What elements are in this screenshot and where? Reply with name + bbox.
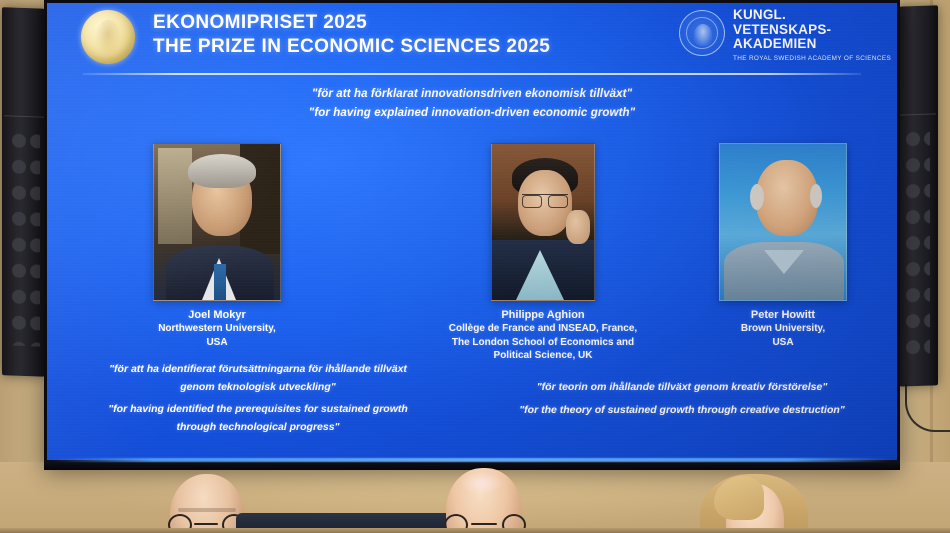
nobel-medal-profile bbox=[95, 20, 121, 56]
laureate-affiliation-1-line1: Collège de France and INSEAD, France, bbox=[439, 322, 647, 336]
panelist-center-head-highlight bbox=[460, 472, 504, 494]
main-citation-swedish: "för att ha förklarat innovationsdriven … bbox=[47, 85, 897, 104]
portrait-background-window bbox=[158, 148, 192, 244]
citation-right-english-1: "for the theory of sustained growth thro… bbox=[477, 402, 887, 420]
speaker-grill-right bbox=[904, 126, 930, 357]
citation-left: "för att ha identifierat förutsättningar… bbox=[53, 361, 463, 436]
academy-line-2: VETENSKAPS- bbox=[733, 23, 891, 38]
royal-academy-seal-icon bbox=[679, 10, 725, 56]
main-citation-english: "for having explained innovation-driven … bbox=[47, 104, 897, 123]
seal-figure bbox=[694, 24, 712, 46]
portrait-joel-mokyr bbox=[153, 143, 281, 301]
laureate-affiliation-0-line1: Northwestern University, bbox=[113, 322, 321, 336]
portrait-hair-right bbox=[810, 184, 822, 208]
speaker-seam-right bbox=[898, 113, 936, 115]
portrait-peter-howitt bbox=[719, 143, 847, 301]
academy-logo: KUNGL. VETENSKAPS- AKADEMIEN THE ROYAL S… bbox=[679, 8, 861, 70]
laureate-affiliation-2-line2: USA bbox=[679, 336, 887, 350]
laureate-affiliation-1-line2: The London School of Economics and bbox=[439, 336, 647, 350]
portrait-face bbox=[756, 160, 818, 236]
laureates-row: Joel Mokyr Northwestern University, USA … bbox=[47, 143, 897, 373]
nobel-medal-icon bbox=[81, 10, 135, 64]
citation-right: "för teorin om ihållande tillväxt genom … bbox=[477, 379, 887, 419]
laureate-affiliation-0-line2: USA bbox=[113, 336, 321, 350]
loudspeaker-left bbox=[2, 7, 48, 377]
portrait-tie bbox=[214, 264, 226, 300]
citation-left-english-2: through technological progress" bbox=[53, 419, 463, 437]
glasses-bridge bbox=[471, 523, 497, 525]
portrait-hand bbox=[566, 210, 590, 244]
laureate-card-2: Peter Howitt Brown University, USA bbox=[679, 143, 887, 349]
laureate-name-0: Joel Mokyr bbox=[113, 308, 321, 322]
speaker-grill-left bbox=[10, 127, 40, 346]
speaker-seam-left bbox=[4, 115, 46, 118]
screen-bottom-glow bbox=[52, 458, 892, 462]
academy-line-3: AKADEMIEN bbox=[733, 37, 891, 52]
header-divider bbox=[83, 73, 861, 75]
portrait-hair bbox=[188, 154, 256, 188]
portrait-glasses-icon bbox=[522, 194, 568, 205]
citation-left-swedish-2: genom teknologisk utveckling" bbox=[53, 379, 463, 397]
portrait-philippe-aghion bbox=[491, 143, 595, 301]
table-edge bbox=[0, 528, 950, 533]
portrait-hair-left bbox=[750, 184, 764, 210]
panelist-left-brow bbox=[178, 508, 236, 512]
page-title-swedish: EKONOMIPRISET 2025 bbox=[153, 11, 550, 35]
citation-left-english-1: "for having identified the prerequisites… bbox=[53, 401, 463, 419]
laureate-affiliation-2-line1: Brown University, bbox=[679, 322, 887, 336]
academy-line-1: KUNGL. bbox=[733, 8, 891, 23]
glasses-bridge bbox=[194, 523, 218, 525]
presentation-screen-frame: EKONOMIPRISET 2025 THE PRIZE IN ECONOMIC… bbox=[44, 0, 900, 466]
laureate-name-2: Peter Howitt bbox=[679, 308, 887, 322]
slide-title-block: EKONOMIPRISET 2025 THE PRIZE IN ECONOMIC… bbox=[153, 11, 550, 59]
laureate-affiliation-1-line3: Political Science, UK bbox=[439, 349, 647, 363]
loudspeaker-right bbox=[896, 5, 938, 386]
citation-left-swedish-1: "för att ha identifierat förutsättningar… bbox=[53, 361, 463, 379]
page-title-english: THE PRIZE IN ECONOMIC SCIENCES 2025 bbox=[153, 35, 550, 59]
academy-wordmark: KUNGL. VETENSKAPS- AKADEMIEN THE ROYAL S… bbox=[733, 8, 891, 62]
main-citation: "för att ha förklarat innovationsdriven … bbox=[47, 85, 897, 123]
panelist-center bbox=[420, 468, 546, 533]
academy-subtitle: THE ROYAL SWEDISH ACADEMY OF SCIENCES bbox=[733, 55, 891, 62]
laureate-card-1: Philippe Aghion Collège de France and IN… bbox=[439, 143, 647, 363]
laureate-card-0: Joel Mokyr Northwestern University, USA bbox=[113, 143, 321, 349]
citation-right-swedish-1: "för teorin om ihållande tillväxt genom … bbox=[477, 379, 887, 397]
laureate-name-1: Philippe Aghion bbox=[439, 308, 647, 322]
panelist-right bbox=[700, 470, 818, 533]
presentation-slide: EKONOMIPRISET 2025 THE PRIZE IN ECONOMIC… bbox=[47, 3, 897, 463]
slide-header: EKONOMIPRISET 2025 THE PRIZE IN ECONOMIC… bbox=[47, 7, 897, 69]
